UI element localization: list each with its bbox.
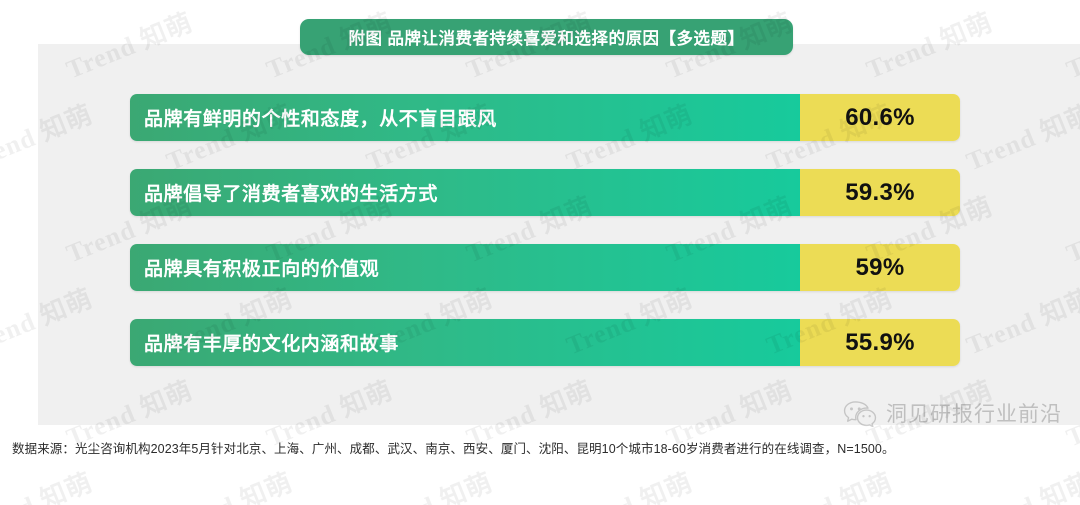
watermark-text: Trend 知萌 [960,462,1080,505]
bar-value: 59% [856,254,905,282]
bar-value-cell: 59.3% [800,169,960,216]
bar-row: 品牌具有积极正向的价值观59% [130,244,960,291]
bar-row: 品牌有鲜明的个性和态度，从不盲目跟风60.6% [130,94,960,141]
bar-label: 品牌具有积极正向的价值观 [144,254,379,281]
page-title: 附图 品牌让消费者持续喜爱和选择的原因【多选题】 [348,25,744,49]
bar-track: 品牌倡导了消费者喜欢的生活方式 [130,169,800,216]
footer-source: 数据来源：光尘咨询机构2023年5月针对北京、上海、广州、成都、武汉、南京、西安… [0,430,1080,465]
bar-value: 60.6% [845,104,915,132]
chart-title-pill: 附图 品牌让消费者持续喜爱和选择的原因【多选题】 [300,19,793,55]
watermark-text: Trend 知萌 [560,462,698,505]
wechat-badge: 洞见研报行业前沿 [843,398,1062,428]
watermark-text: Trend 知萌 [160,462,298,505]
source-note: 数据来源：光尘咨询机构2023年5月针对北京、上海、广州、成都、武汉、南京、西安… [0,438,895,457]
bar-track: 品牌有鲜明的个性和态度，从不盲目跟风 [130,94,800,141]
bar-row: 品牌有丰厚的文化内涵和故事55.9% [130,319,960,366]
bar-value: 55.9% [845,329,915,357]
bar-label: 品牌有鲜明的个性和态度，从不盲目跟风 [144,104,497,131]
bar-value-cell: 55.9% [800,319,960,366]
bar-label: 品牌倡导了消费者喜欢的生活方式 [144,179,438,206]
wechat-badge-label: 洞见研报行业前沿 [886,398,1062,428]
bar-label: 品牌有丰厚的文化内涵和故事 [144,329,399,356]
bar-value: 59.3% [845,179,915,207]
watermark-text: Trend 知萌 [360,462,498,505]
watermark-text: Trend 知萌 [0,462,98,505]
bar-value-cell: 60.6% [800,94,960,141]
wechat-icon [843,400,877,427]
bar-rows: 品牌有鲜明的个性和态度，从不盲目跟风60.6%品牌倡导了消费者喜欢的生活方式59… [130,94,960,366]
bar-row: 品牌倡导了消费者喜欢的生活方式59.3% [130,169,960,216]
watermark-text: Trend 知萌 [760,462,898,505]
chart-canvas: Trend 知萌Trend 知萌Trend 知萌Trend 知萌Trend 知萌… [0,0,1080,465]
bar-value-cell: 59% [800,244,960,291]
bar-track: 品牌具有积极正向的价值观 [130,244,800,291]
bar-track: 品牌有丰厚的文化内涵和故事 [130,319,800,366]
